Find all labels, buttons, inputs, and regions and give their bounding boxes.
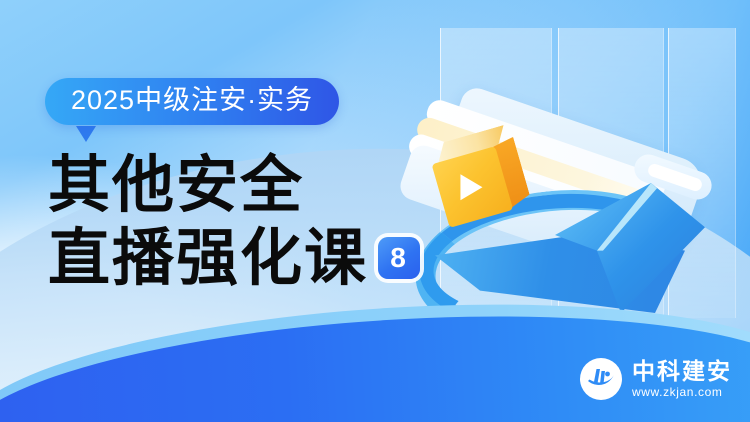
zkjan-logo-icon [580, 358, 622, 400]
title-line-1: 其他安全 [48, 148, 304, 221]
brand-logo: 中科建安 www.zkjan.com [580, 358, 732, 400]
logo-url: www.zkjan.com [632, 386, 732, 398]
logo-text-group: 中科建安 www.zkjan.com [632, 360, 732, 398]
episode-number-badge: 8 [378, 237, 420, 279]
title-line-2-wrapper: 直播强化课 8 [48, 221, 420, 294]
title-line-2: 直播强化课 [48, 221, 368, 294]
course-promo-banner: 2025中级注安·实务 其他安全 直播强化课 8 中科建安 www.zkjan.… [0, 0, 750, 422]
badge-tail [76, 126, 96, 142]
logo-name: 中科建安 [632, 360, 732, 383]
title-block: 其他安全 直播强化课 8 [48, 148, 420, 294]
title-line-1-wrapper: 其他安全 [48, 148, 420, 221]
play-triangle-icon [460, 174, 482, 200]
course-badge: 2025中级注安·实务 [45, 78, 339, 125]
